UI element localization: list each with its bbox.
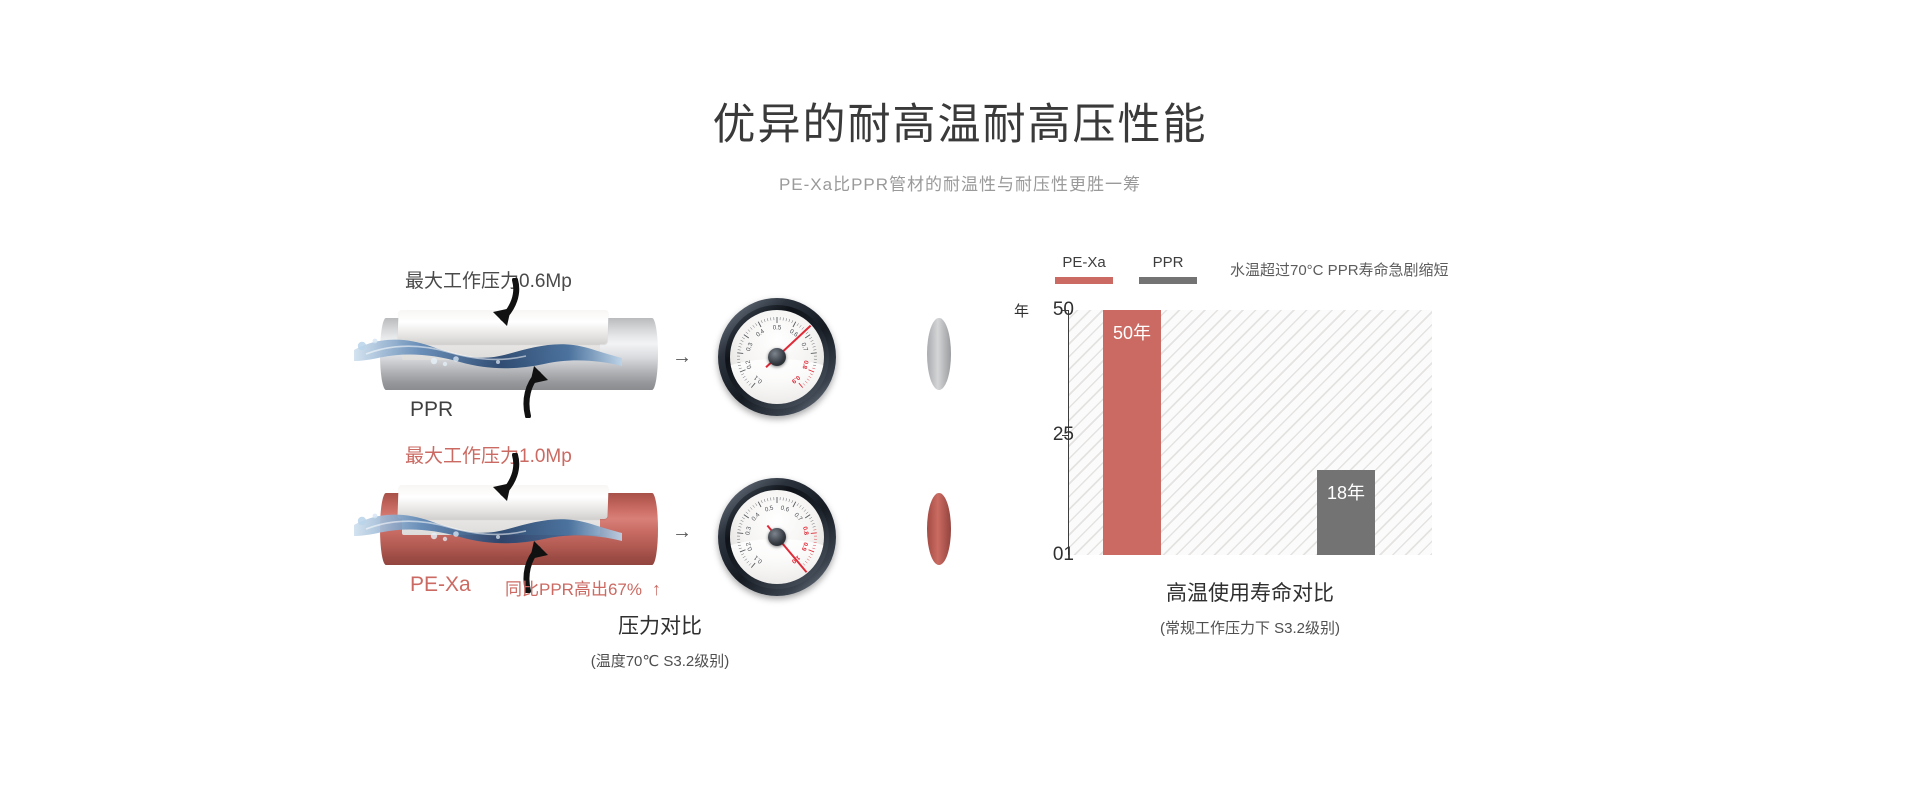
svg-text:0.6: 0.6 bbox=[780, 505, 791, 514]
pressure-caption-main: 压力对比 bbox=[380, 610, 940, 640]
svg-text:0.7: 0.7 bbox=[799, 342, 809, 353]
pressure-caption-sub: (温度70℃ S3.2级别) bbox=[380, 650, 940, 671]
ppr-annotation-arrow-down bbox=[485, 278, 531, 330]
svg-text:0.5: 0.5 bbox=[764, 504, 775, 513]
pexa-comparison-text: 同比PPR高出67%↑ bbox=[505, 575, 661, 600]
lifespan-chart-panel: PE-Xa PPR 水温超过70°C PPR寿命急剧缩短 年 50年18年 50… bbox=[1020, 255, 1580, 675]
pexa-pipe-illustration: 最大工作压力1.0Mp bbox=[380, 455, 940, 605]
up-arrow-icon: ↑ bbox=[652, 579, 661, 599]
y-tick-mark bbox=[1062, 435, 1069, 436]
ppr-flow-arrow-icon: → bbox=[672, 346, 692, 369]
lifespan-caption-main: 高温使用寿命对比 bbox=[1068, 577, 1432, 607]
legend-label-ppr: PPR bbox=[1153, 255, 1184, 272]
pexa-comparison-label: 同比PPR高出67% bbox=[505, 580, 642, 599]
svg-text:0.2: 0.2 bbox=[745, 541, 755, 552]
pressure-gauge-ppr: 0.10.20.30.40.50.60.70.80.9 bbox=[718, 298, 836, 416]
svg-text:0.9: 0.9 bbox=[800, 541, 810, 552]
svg-text:0.2: 0.2 bbox=[744, 359, 753, 370]
gauge-hub bbox=[768, 348, 786, 366]
pressure-comparison-panel: 最大工作压力0.6Mp bbox=[380, 270, 940, 690]
svg-text:0.8: 0.8 bbox=[801, 526, 810, 536]
pexa-pipe-name: PE-Xa bbox=[410, 573, 471, 597]
svg-text:0.7: 0.7 bbox=[793, 512, 804, 523]
svg-text:0.5: 0.5 bbox=[773, 325, 782, 332]
page-subtitle: PE-Xa比PPR管材的耐温性与耐压性更胜一筹 bbox=[0, 170, 1920, 195]
svg-text:0.1: 0.1 bbox=[752, 553, 764, 564]
svg-text:0.8: 0.8 bbox=[800, 359, 809, 370]
svg-text:0.1: 0.1 bbox=[752, 373, 764, 384]
ppr-annotation-arrow-up bbox=[508, 356, 554, 418]
bar-value-label: 18年 bbox=[1327, 479, 1365, 555]
y-axis-unit-label: 年 bbox=[1014, 300, 1029, 321]
pexa-annotation-arrow-down bbox=[485, 453, 531, 505]
pressure-gauge-pexa: 0.10.20.30.40.50.60.70.80.91.0 bbox=[718, 478, 836, 596]
y-tick-label: 01 bbox=[1030, 544, 1074, 566]
legend-swatch-pexa bbox=[1055, 277, 1113, 284]
chart-plot-area: 50年18年 bbox=[1069, 310, 1432, 555]
pexa-pipe-cap bbox=[927, 493, 951, 565]
gauge-hub bbox=[768, 528, 786, 546]
legend-item-ppr: PPR bbox=[1139, 255, 1197, 284]
pressure-caption: 压力对比 (温度70℃ S3.2级别) bbox=[380, 610, 940, 671]
chart-annotation-note: 水温超过70°C PPR寿命急剧缩短 bbox=[1230, 259, 1449, 280]
y-tick-mark bbox=[1062, 310, 1069, 311]
chart-bar-ppr: 18年 bbox=[1317, 470, 1375, 555]
svg-text:0.4: 0.4 bbox=[750, 511, 761, 522]
page-header: 优异的耐高温耐高压性能 PE-Xa比PPR管材的耐温性与耐压性更胜一筹 bbox=[0, 0, 1920, 195]
ppr-pipe-cap bbox=[927, 318, 951, 390]
legend-item-pexa: PE-Xa bbox=[1055, 255, 1113, 284]
chart-plot-wrapper: 年 50年18年 502501 bbox=[1020, 310, 1440, 555]
lifespan-caption-sub: (常规工作压力下 S3.2级别) bbox=[1068, 617, 1432, 638]
page-root: 优异的耐高温耐高压性能 PE-Xa比PPR管材的耐温性与耐压性更胜一筹 最大工作… bbox=[0, 0, 1920, 800]
svg-text:0.3: 0.3 bbox=[745, 341, 755, 352]
ppr-pipe-illustration: 最大工作压力0.6Mp bbox=[380, 280, 940, 430]
ppr-pipe-name: PPR bbox=[410, 398, 453, 422]
chart-legend: PE-Xa PPR bbox=[1055, 255, 1197, 284]
lifespan-caption: 高温使用寿命对比 (常规工作压力下 S3.2级别) bbox=[1068, 577, 1432, 638]
legend-label-pexa: PE-Xa bbox=[1062, 255, 1105, 272]
pexa-flow-arrow-icon: → bbox=[672, 521, 692, 544]
page-title: 优异的耐高温耐高压性能 bbox=[0, 100, 1920, 152]
legend-swatch-ppr bbox=[1139, 277, 1197, 284]
bar-value-label: 50年 bbox=[1113, 319, 1151, 555]
svg-text:0.3: 0.3 bbox=[744, 525, 753, 535]
svg-text:0.4: 0.4 bbox=[755, 328, 767, 339]
chart-bar-pe-xa: 50年 bbox=[1103, 310, 1161, 555]
